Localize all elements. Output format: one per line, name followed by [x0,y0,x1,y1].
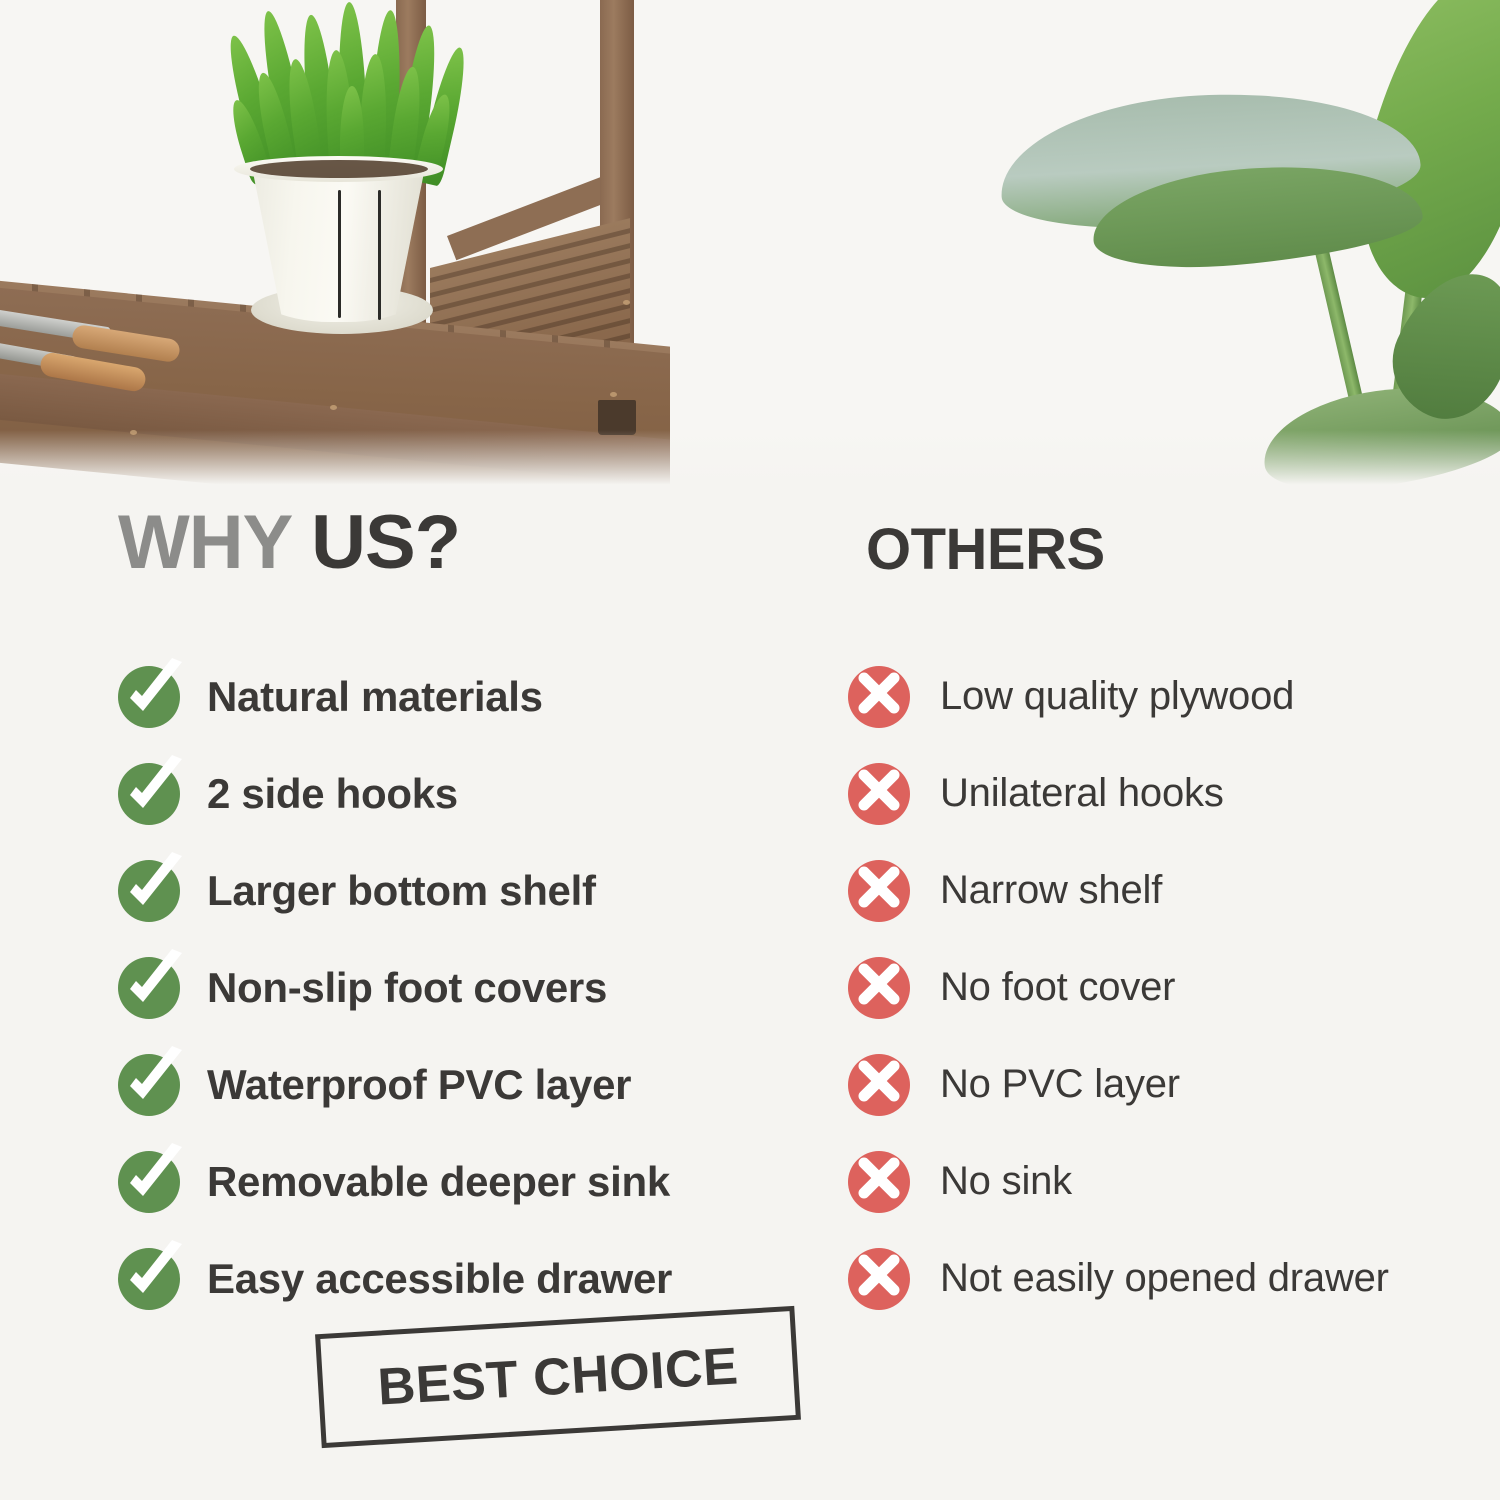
cons-item-label: Not easily opened drawer [940,1256,1389,1301]
cons-item-row: No foot cover [848,939,1389,1036]
cons-item-label: No sink [940,1159,1072,1204]
headings-row: WHY US? OTHERS [0,505,1500,615]
pros-item-label: Removable deeper sink [207,1158,670,1206]
pros-item-label: Non-slip foot covers [207,964,607,1012]
pros-item-row: Removable deeper sink [118,1133,672,1230]
x-circle-icon [848,957,910,1019]
pros-item-row: Non-slip foot covers [118,939,672,1036]
cons-item-label: Narrow shelf [940,868,1162,913]
pros-item-label: Easy accessible drawer [207,1255,672,1303]
title-us-word: US? [311,500,460,585]
cons-item-row: No PVC layer [848,1036,1389,1133]
shelf-screw [130,430,137,435]
pot-soil [250,160,428,178]
pros-item-row: Easy accessible drawer [118,1230,672,1327]
photo-bottom-fade [0,430,1500,500]
cons-item-label: No PVC layer [940,1062,1180,1107]
cons-item-row: Not easily opened drawer [848,1230,1389,1327]
shelf-screw [623,300,630,305]
best-choice-label: BEST CHOICE [376,1336,740,1417]
x-circle-icon [848,763,910,825]
product-photo-band [0,0,1500,500]
x-circle-icon [848,666,910,728]
pot-wave-decor [378,190,381,320]
cons-column: Low quality plywoodUnilateral hooksNarro… [848,648,1389,1327]
cons-item-label: No foot cover [940,965,1175,1010]
best-choice-badge: BEST CHOICE [315,1306,801,1448]
x-circle-icon [848,860,910,922]
check-circle-icon [118,1054,180,1116]
cons-item-row: Narrow shelf [848,842,1389,939]
pros-item-row: Larger bottom shelf [118,842,672,939]
check-circle-icon [118,860,180,922]
check-circle-icon [118,1151,180,1213]
x-circle-icon [848,1151,910,1213]
cons-item-row: No sink [848,1133,1389,1230]
pros-column: Natural materials2 side hooksLarger bott… [118,648,672,1327]
check-circle-icon [118,666,180,728]
pros-item-row: Natural materials [118,648,672,745]
shelf-screw [610,392,617,397]
pros-item-label: 2 side hooks [207,770,458,818]
pros-item-row: 2 side hooks [118,745,672,842]
comparison-infographic: WHY US? OTHERS Natural materials2 side h… [0,0,1500,1500]
check-circle-icon [118,763,180,825]
cons-item-row: Unilateral hooks [848,745,1389,842]
pros-item-label: Larger bottom shelf [207,867,596,915]
pros-item-label: Waterproof PVC layer [207,1061,631,1109]
pot-wave-decor [338,190,341,318]
pros-item-label: Natural materials [207,673,543,721]
check-circle-icon [118,957,180,1019]
cons-item-label: Unilateral hooks [940,771,1224,816]
cons-item-label: Low quality plywood [940,674,1294,719]
cons-item-row: Low quality plywood [848,648,1389,745]
page-title-why-us: WHY US? [118,505,460,581]
title-why-word: WHY [118,500,311,585]
check-circle-icon [118,1248,180,1310]
pros-item-row: Waterproof PVC layer [118,1036,672,1133]
shelf-screw [330,405,337,410]
x-circle-icon [848,1248,910,1310]
x-circle-icon [848,1054,910,1116]
page-title-others: OTHERS [866,521,1105,579]
